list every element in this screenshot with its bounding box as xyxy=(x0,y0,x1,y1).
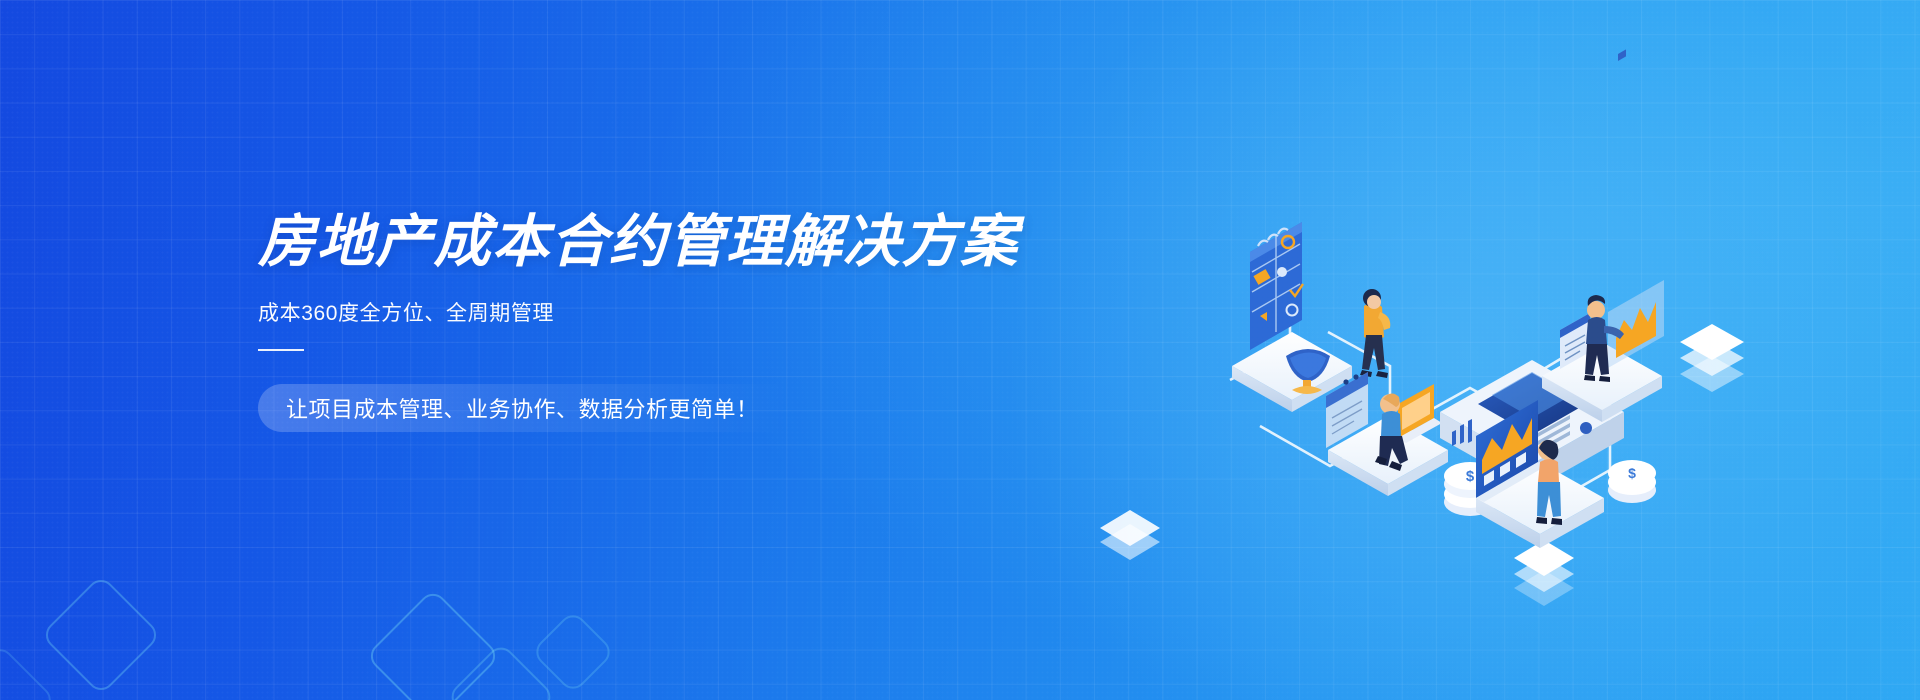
layered-cards-icon xyxy=(1100,510,1160,560)
laptop-icon xyxy=(1398,384,1442,443)
decor-diamond-icon xyxy=(40,574,162,696)
hero-banner: 房地产成本合约管理解决方案 成本360度全方位、全周期管理 让项目成本管理、业务… xyxy=(0,0,1920,700)
title-divider xyxy=(258,349,304,351)
layered-cards-icon xyxy=(1514,540,1574,606)
tagline-pill: 让项目成本管理、业务协作、数据分析更简单！ xyxy=(258,384,789,432)
node-presenter-platform xyxy=(1542,49,1664,422)
decor-diamond-icon xyxy=(446,642,556,700)
decor-diamond-icon xyxy=(0,643,57,700)
banner-copy: 房地产成本合约管理解决方案 成本360度全方位、全周期管理 让项目成本管理、业务… xyxy=(258,212,1018,432)
bar-chart-screen-icon xyxy=(1608,49,1664,368)
svg-text:$: $ xyxy=(1628,465,1636,481)
svg-text:$: $ xyxy=(1466,468,1475,485)
calendar-checklist-icon xyxy=(1250,222,1303,350)
decor-diamond-icon xyxy=(365,588,501,700)
coin-stack-icon: $ xyxy=(1608,460,1656,503)
decor-diamond-icon xyxy=(531,610,616,695)
layered-cards-icon xyxy=(1680,324,1744,392)
banner-subtitle: 成本360度全方位、全周期管理 xyxy=(258,297,1018,327)
page-title: 房地产成本合约管理解决方案 xyxy=(258,212,1018,272)
node-document-platform xyxy=(1326,372,1448,496)
hero-illustration: $ $ xyxy=(1140,180,1760,600)
